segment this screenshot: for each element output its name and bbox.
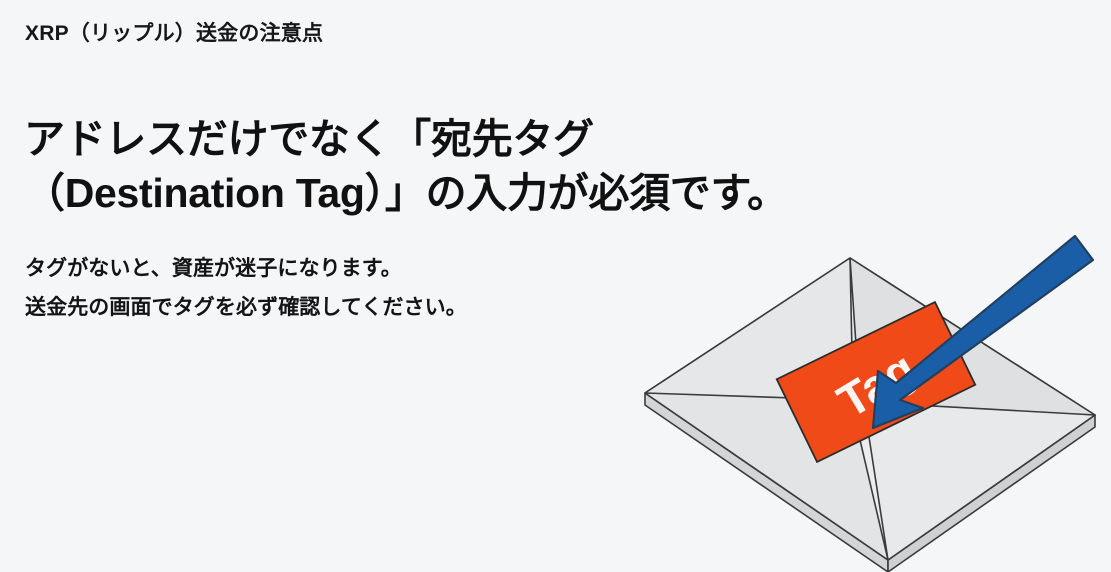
headline-line-1: アドレスだけでなく「宛先タグ <box>24 112 788 166</box>
subtext-line-2: 送金先の画面でタグを必ず確認してください。 <box>25 289 467 328</box>
slide-eyebrow: XRP（リップル）送金の注意点 <box>25 21 323 46</box>
slide-headline: アドレスだけでなく「宛先タグ （Destination Tag）」の入力が必須で… <box>24 112 788 220</box>
slide-subtext: タグがないと、資産が迷子になります。 送金先の画面でタグを必ず確認してください。 <box>25 250 467 328</box>
subtext-line-1: タグがないと、資産が迷子になります。 <box>25 250 467 289</box>
slide-canvas: XRP（リップル）送金の注意点 アドレスだけでなく「宛先タグ （Destinat… <box>0 0 1111 572</box>
headline-line-2: （Destination Tag）」の入力が必須です。 <box>24 166 788 220</box>
envelope-with-tag-illustration: Tag <box>620 222 1111 572</box>
